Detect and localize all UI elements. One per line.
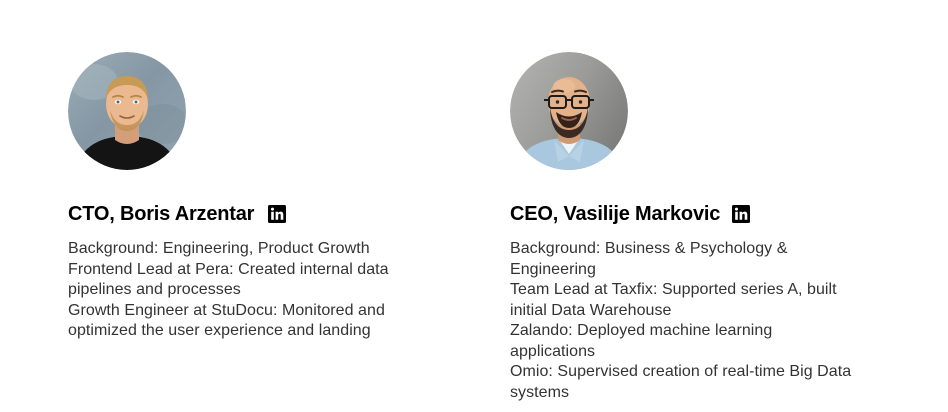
bio-line: Omio: Supervised creation of real-time B… (510, 362, 858, 403)
avatar-boris-arzentar (68, 52, 186, 170)
bio-line: Zalando: Deployed machine learning appli… (510, 321, 858, 362)
profile-name-row-cto: CTO, Boris Arzentar (68, 202, 468, 226)
profile-card-ceo: CEO, Vasilije Markovic Background: Busin… (510, 0, 910, 403)
bio-line: Background: Business & Psychology & Engi… (510, 239, 858, 280)
bio-line: Growth Engineer at StuDocu: Monitored an… (68, 301, 413, 342)
profile-bio-cto: Background: Engineering, Product Growth … (68, 239, 413, 342)
linkedin-icon[interactable] (268, 205, 286, 223)
bio-line: Team Lead at Taxfix: Supported series A,… (510, 280, 858, 321)
profile-card-cto: CTO, Boris Arzentar Background: Engineer… (68, 0, 468, 342)
bio-line: Frontend Lead at Pera: Created internal … (68, 260, 413, 301)
team-profiles-section: CTO, Boris Arzentar Background: Engineer… (0, 0, 948, 412)
bio-line: Background: Engineering, Product Growth (68, 239, 413, 260)
profile-bio-ceo: Background: Business & Psychology & Engi… (510, 239, 858, 403)
linkedin-icon[interactable] (732, 205, 750, 223)
avatar-vasilije-markovic (510, 52, 628, 170)
profile-name-cto: CTO, Boris Arzentar (68, 202, 254, 226)
profile-name-row-ceo: CEO, Vasilije Markovic (510, 202, 910, 226)
profile-name-ceo: CEO, Vasilije Markovic (510, 202, 720, 226)
